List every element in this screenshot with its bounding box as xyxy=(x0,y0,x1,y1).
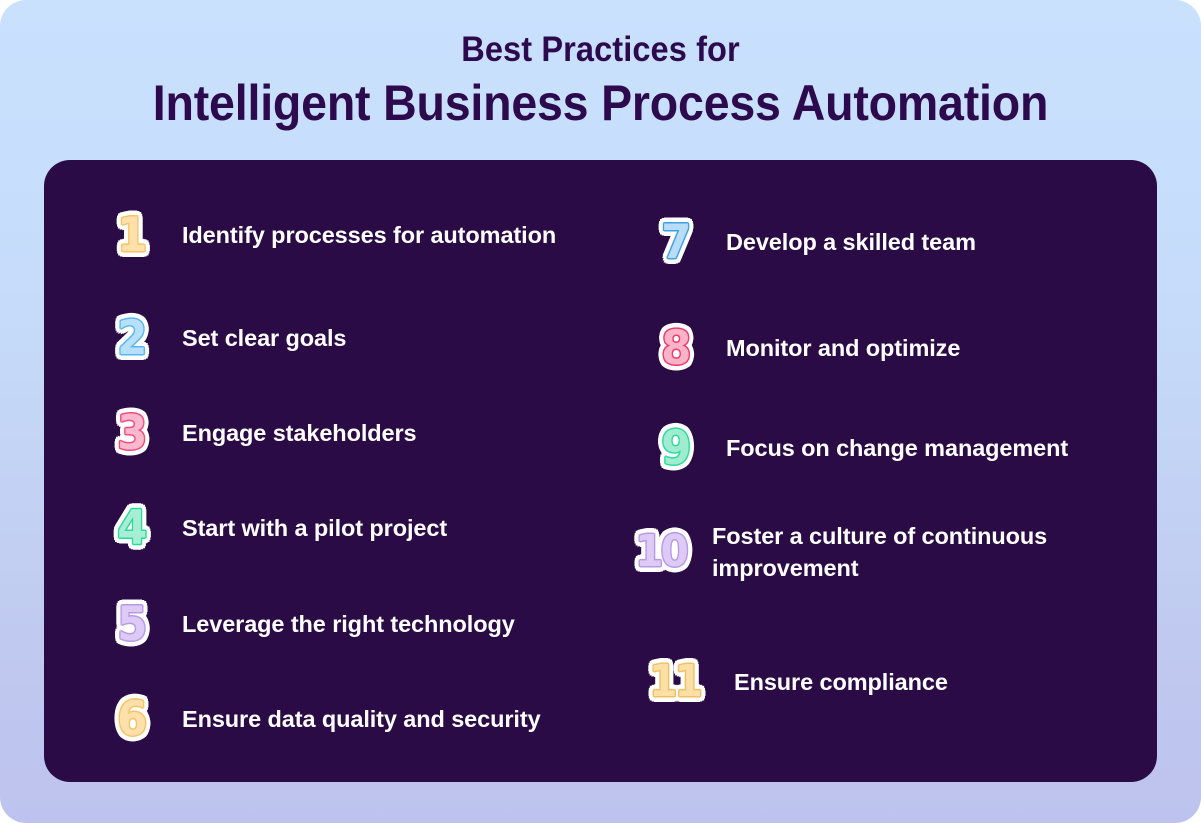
number-badge-11: 11 xyxy=(638,645,712,719)
list-item-label: Identify processes for automation xyxy=(182,219,556,251)
list-item: 2 Set clear goals xyxy=(94,301,346,375)
badge-digits: 2 xyxy=(117,315,145,362)
number-badge-3: 3 xyxy=(94,396,168,470)
number-badge-10: 10 xyxy=(624,515,698,589)
practices-panel: 1 Identify processes for automation 2 Se… xyxy=(44,160,1157,782)
badge-digits: 6 xyxy=(117,696,145,743)
badge-digits: 5 xyxy=(117,601,145,648)
title-line-2: Intelligent Business Process Automation xyxy=(42,74,1159,132)
number-badge-8: 8 xyxy=(638,311,712,385)
badge-digits: 10 xyxy=(636,530,687,574)
list-item: 9 Focus on change management xyxy=(638,411,1068,485)
badge-digits: 9 xyxy=(661,425,689,472)
list-item-label: Foster a culture of continuous improveme… xyxy=(712,520,1142,584)
list-item-label: Engage stakeholders xyxy=(182,418,417,449)
badge-digits: 7 xyxy=(661,219,689,266)
list-item-label: Ensure data quality and security xyxy=(182,704,541,735)
list-item: 10 Foster a culture of continuous improv… xyxy=(624,515,1142,589)
number-badge-2: 2 xyxy=(94,301,168,375)
badge-digits: 8 xyxy=(661,325,689,372)
number-badge-5: 5 xyxy=(94,587,168,661)
badge-digits: 11 xyxy=(650,660,701,704)
list-item-label: Start with a pilot project xyxy=(182,513,447,544)
title-line-1: Best Practices for xyxy=(42,28,1159,72)
list-item-label: Ensure compliance xyxy=(734,667,948,698)
list-item-label: Leverage the right technology xyxy=(182,609,515,640)
list-item: 11 Ensure compliance xyxy=(638,645,948,719)
list-item: 6 Ensure data quality and security xyxy=(94,682,541,756)
badge-digits: 3 xyxy=(117,410,145,457)
page-title: Best Practices for Intelligent Business … xyxy=(0,28,1201,132)
list-item-label: Set clear goals xyxy=(182,323,346,354)
number-badge-7: 7 xyxy=(638,205,712,279)
list-item: 5 Leverage the right technology xyxy=(94,587,515,661)
list-item-label: Focus on change management xyxy=(726,433,1068,464)
number-badge-6: 6 xyxy=(94,682,168,756)
list-item: 8 Monitor and optimize xyxy=(638,311,960,385)
list-item: 4 Start with a pilot project xyxy=(94,491,447,565)
number-badge-1: 1 xyxy=(94,198,168,272)
list-item: 7 Develop a skilled team xyxy=(638,205,976,279)
badge-digits: 4 xyxy=(117,505,145,552)
list-item: 1 Identify processes for automation xyxy=(94,198,556,272)
list-item: 3 Engage stakeholders xyxy=(94,396,417,470)
number-badge-4: 4 xyxy=(94,491,168,565)
infographic-poster: Best Practices for Intelligent Business … xyxy=(0,0,1201,823)
badge-digits: 1 xyxy=(117,212,145,259)
number-badge-9: 9 xyxy=(638,411,712,485)
list-item-label: Develop a skilled team xyxy=(726,227,976,258)
list-item-label: Monitor and optimize xyxy=(726,333,960,364)
